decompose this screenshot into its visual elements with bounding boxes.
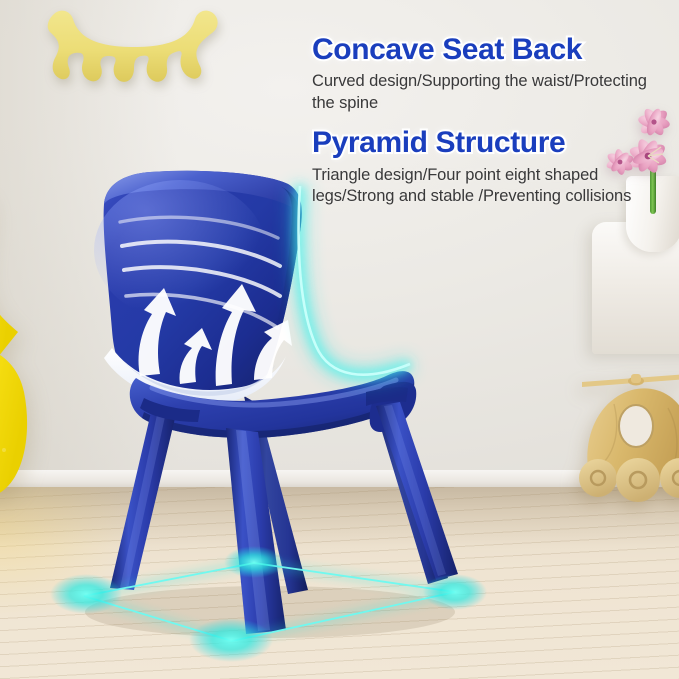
kids-stacking-chair — [40, 160, 470, 650]
feature-description: Curved design/Supporting the waist/Prote… — [312, 71, 672, 114]
feature-block-concave-seat-back: Concave Seat Back Curved design/Supporti… — [312, 34, 672, 114]
feature-headline: Concave Seat Back — [312, 34, 672, 66]
wooden-toy-helicopter — [576, 356, 679, 502]
eyelash-wall-decor — [44, 6, 224, 98]
feature-headline: Pyramid Structure — [312, 127, 672, 159]
feature-block-pyramid-structure: Pyramid Structure Triangle design/Four p… — [312, 127, 672, 207]
feature-description: Triangle design/Four point eight shaped … — [312, 165, 672, 208]
product-feature-image: Concave Seat Back Curved design/Supporti… — [0, 0, 679, 679]
feature-copy-panel: Concave Seat Back Curved design/Supporti… — [312, 34, 672, 208]
